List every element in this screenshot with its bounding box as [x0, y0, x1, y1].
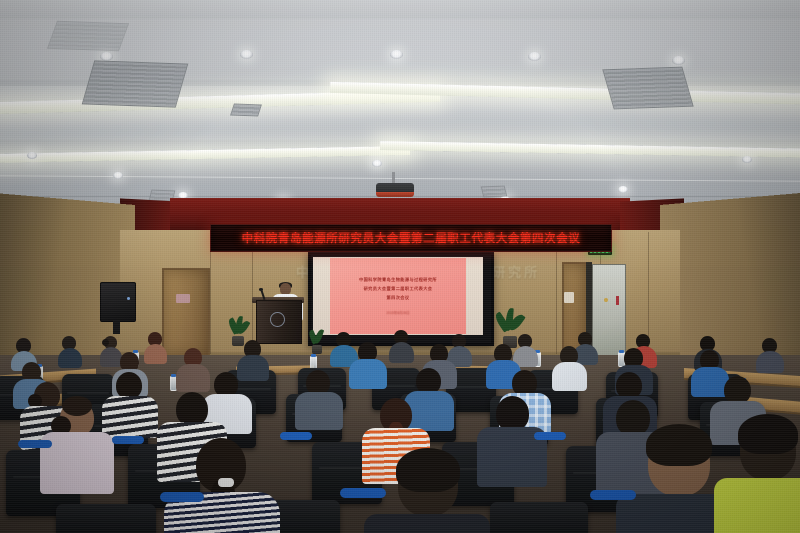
projector-body-accent — [376, 192, 414, 197]
seat-chair[interactable] — [490, 502, 588, 533]
chair-armrest — [590, 490, 636, 500]
wall-institute-text-right: 研究所 — [492, 262, 540, 281]
downlight — [528, 52, 541, 61]
seat-chair[interactable] — [56, 504, 156, 533]
air-vent — [47, 21, 129, 52]
chair-armrest — [112, 436, 144, 444]
chair-armrest — [280, 432, 312, 440]
door-sign — [176, 294, 190, 303]
chair-armrest — [18, 440, 52, 448]
led-banner: 中科院青岛能源所研究员大会暨第二届职工代表大会第四次会议 — [210, 224, 612, 252]
air-vent — [602, 67, 693, 110]
slide-date: 2015年8月28日 — [386, 310, 409, 315]
air-vent — [481, 186, 508, 198]
air-vent — [82, 60, 189, 107]
downlight — [742, 156, 752, 163]
podium-emblem — [270, 312, 285, 327]
conference-hall-photo: 中国科 研究所 中国科学院青岛生物能源与过程研究所 研究员大会暨第二届职工代表大… — [0, 0, 800, 533]
wooden-door-left[interactable] — [162, 268, 210, 358]
slide-line-3: 第四次会议 — [387, 295, 410, 301]
potted-plant — [228, 318, 248, 346]
downlight — [390, 50, 403, 59]
potted-plant — [308, 330, 326, 354]
slide-line-2: 研究员大会暨第二届职工代表大会 — [364, 286, 433, 292]
chair-armrest — [340, 488, 386, 498]
downlight — [672, 56, 685, 65]
led-banner-text: 中科院青岛能源所研究员大会暨第二届职工代表大会第四次会议 — [242, 230, 581, 246]
downlight — [372, 160, 382, 167]
door-notice — [564, 292, 574, 303]
open-doorway-right[interactable] — [592, 264, 626, 358]
downlight — [618, 186, 628, 193]
chair-armrest — [160, 492, 204, 502]
slide-line-1: 中国科学院青岛生物能源与过程研究所 — [359, 277, 437, 283]
downlight — [113, 172, 123, 179]
downlight — [240, 50, 253, 59]
side-display-monitor — [100, 282, 136, 322]
door-latch — [616, 296, 619, 305]
downlight — [27, 152, 37, 159]
monitor-power-led — [127, 297, 130, 300]
microphone-head — [259, 288, 263, 291]
chair-armrest — [534, 432, 566, 440]
monitor-stand — [113, 320, 120, 334]
air-vent — [230, 104, 262, 117]
door-handle[interactable] — [604, 298, 608, 302]
presentation-slide: 中国科学院青岛生物能源与过程研究所 研究员大会暨第二届职工代表大会 第四次会议 … — [330, 258, 466, 334]
